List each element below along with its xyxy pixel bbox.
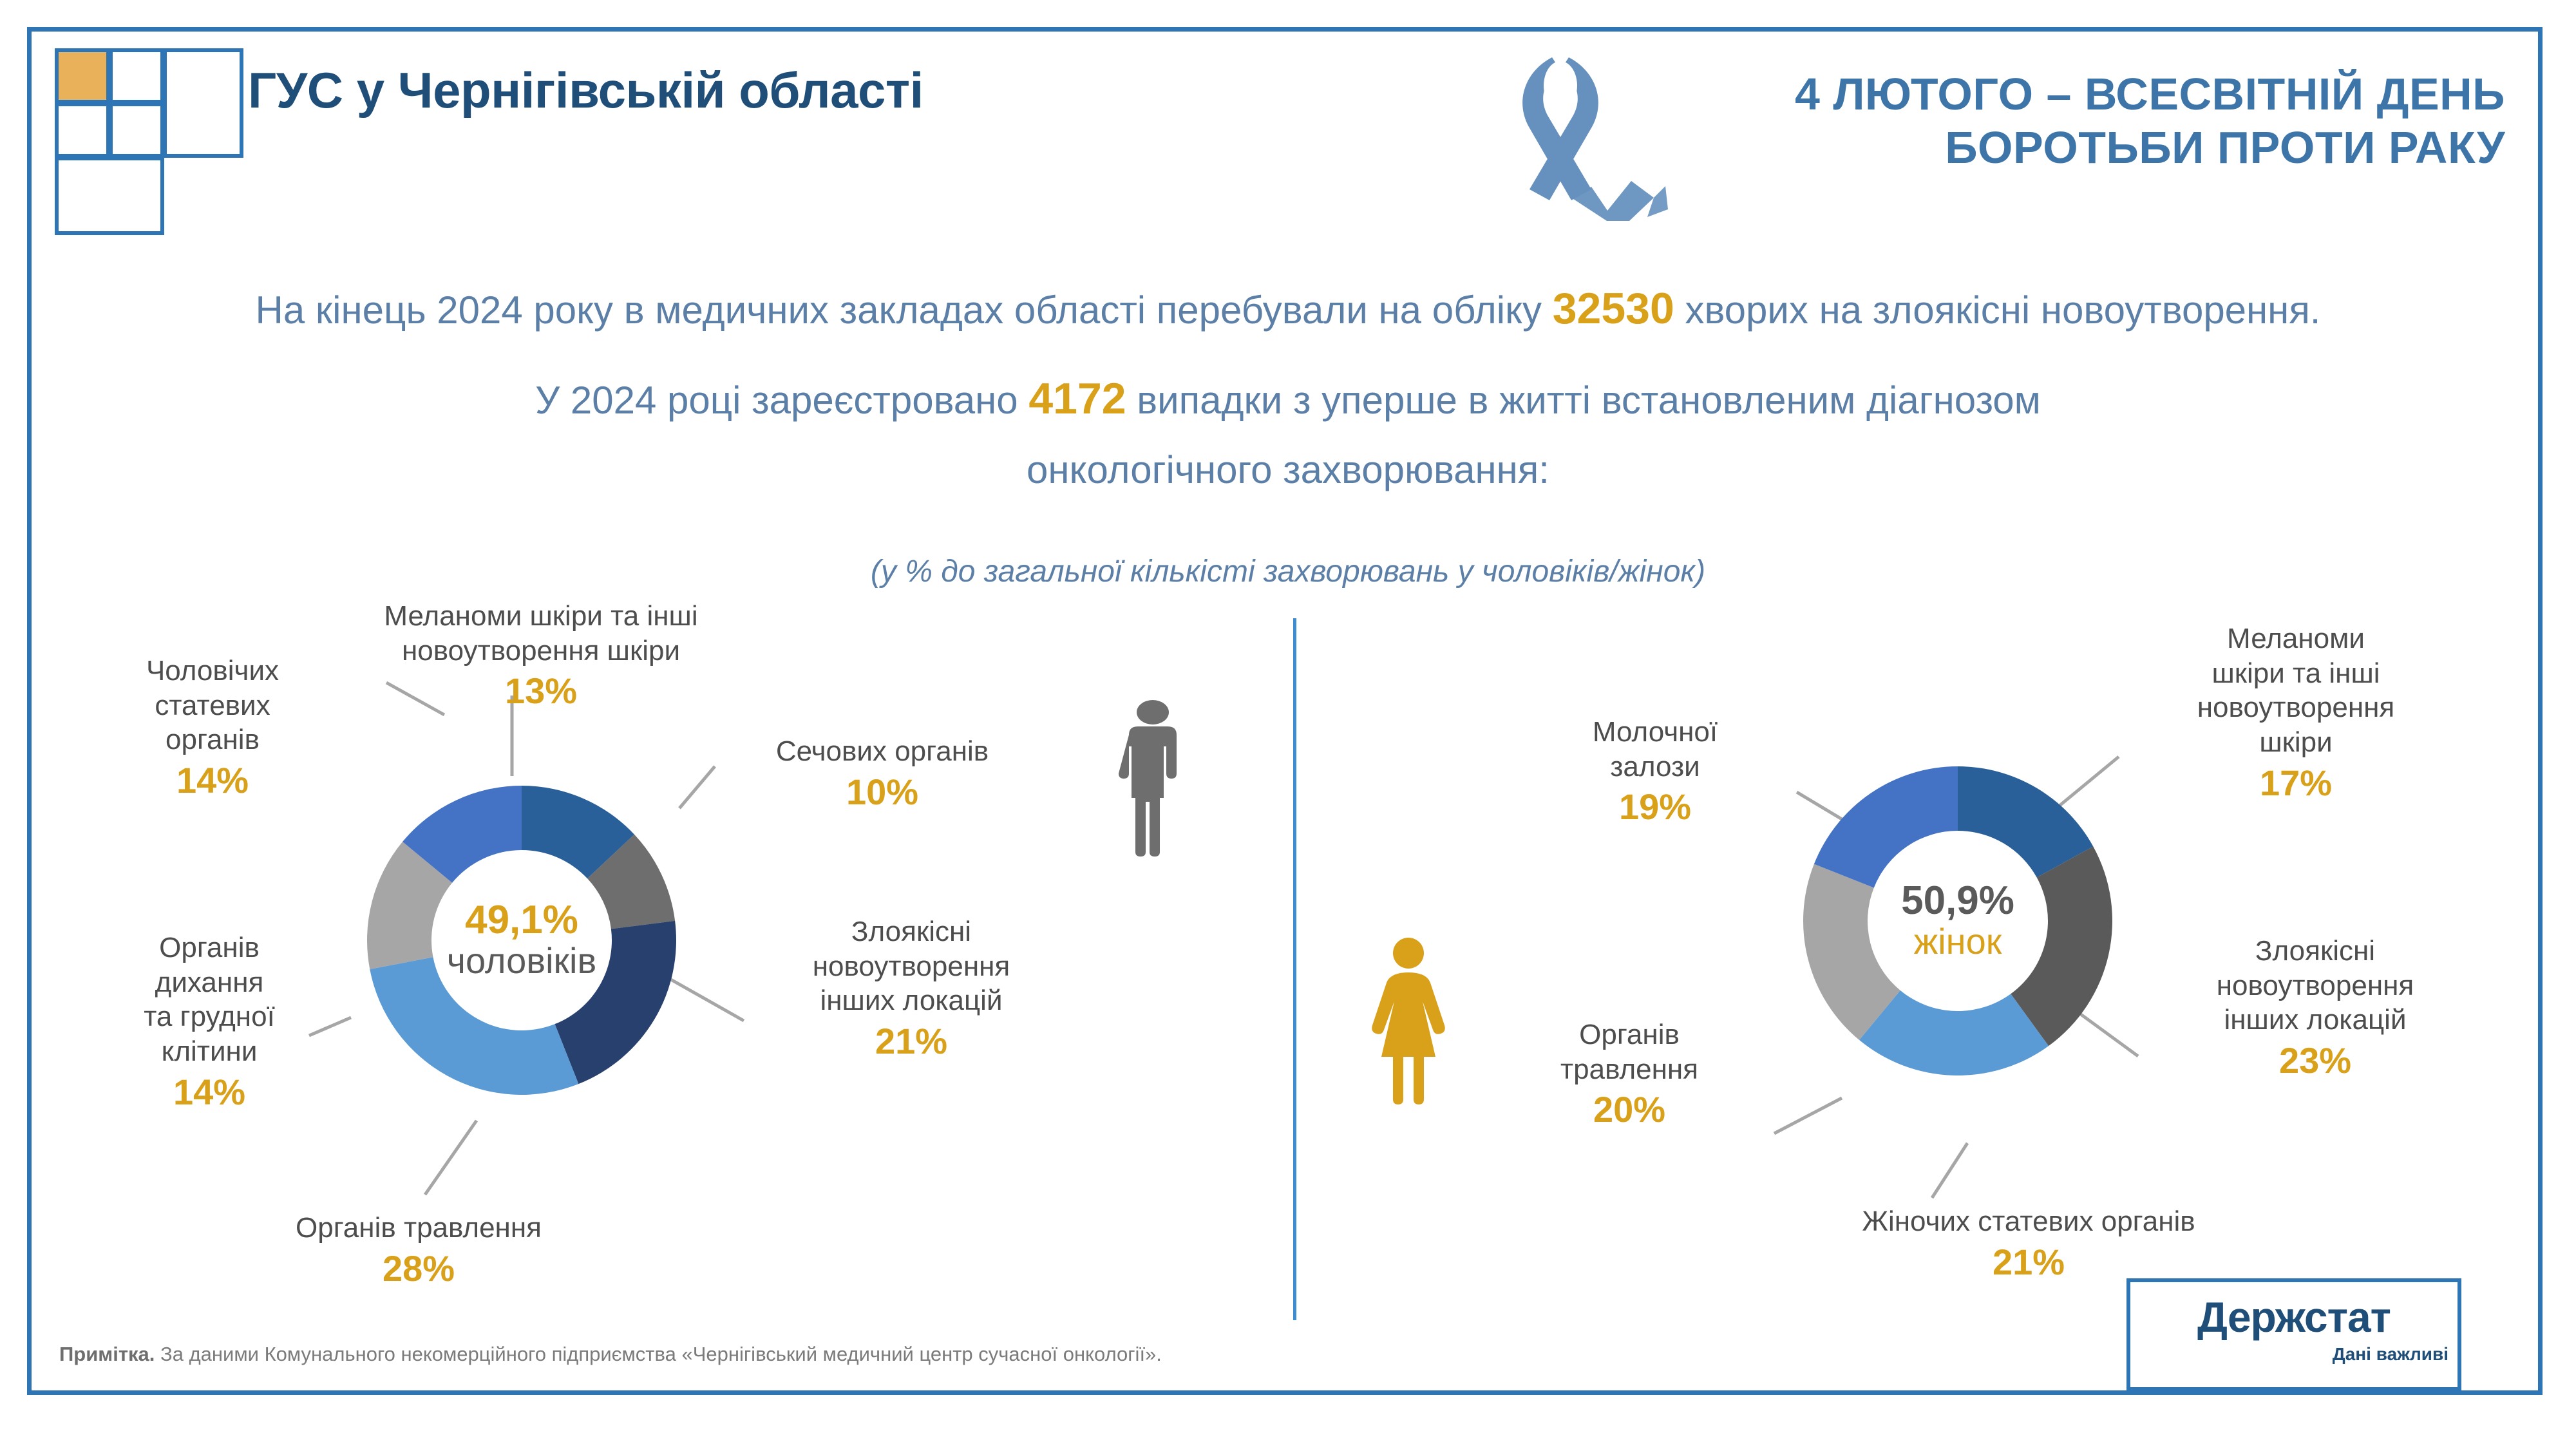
male-other-line1: Злоякісні — [851, 916, 971, 947]
campaign-title-line1: 4 ЛЮТОГО – ВСЕСВІТНІЙ ДЕНЬ — [1584, 68, 2505, 121]
male-respiratory-line2: дихання — [155, 967, 264, 998]
logo-cell-4 — [109, 102, 164, 158]
logo-cell-5 — [163, 48, 243, 158]
male-urinary-value: 10% — [728, 770, 1037, 814]
campaign-title: 4 ЛЮТОГО – ВСЕСВІТНІЙ ДЕНЬ БОРОТЬБИ ПРОТ… — [1584, 68, 2505, 174]
logo-cell-6 — [55, 156, 164, 235]
female-breast-line1: Молочної — [1593, 716, 1718, 748]
female-melanoma-line1: Меланоми — [2227, 623, 2365, 654]
infographic-slide: ГУС у Чернігівській області 4 ЛЮТОГО – В… — [0, 0, 2576, 1449]
female-genital-line1: Жіночих статевих органів — [1862, 1206, 2195, 1237]
female-genital-value: 21% — [1739, 1240, 2318, 1284]
female-donut-chart: 50,9% жінок — [1765, 728, 2151, 1114]
male-respiratory-line1: Органів — [159, 932, 260, 963]
lead2-text-a: У 2024 році зареєстровано — [535, 379, 1018, 422]
logo-cell-gold — [55, 48, 110, 104]
male-melanoma-value: 13% — [335, 669, 747, 713]
male-urinary-line1: Сечових органів — [776, 735, 989, 767]
male-donut-hole — [432, 851, 611, 1030]
logo-cell-3 — [55, 102, 110, 158]
female-digestive-line1: Органів — [1579, 1019, 1680, 1050]
lead-statement-2: У 2024 році зареєстровано 4172 випадки з… — [0, 374, 2576, 424]
female-melanoma-value: 17% — [2145, 761, 2447, 805]
lead-statement-3: онкологічного захворювання: — [0, 448, 2576, 492]
female-label-other: Злоякісні новоутворення інших локацій 23… — [2170, 934, 2460, 1083]
percentage-basis-note: (у % до загальної кількісті захворювань … — [0, 554, 2576, 589]
female-other-line1: Злоякісні — [2255, 935, 2375, 967]
female-other-line2: новоутворення — [2217, 970, 2414, 1001]
female-label-digestive: Органів травлення 20% — [1488, 1018, 1771, 1132]
male-respiratory-line4: клітини — [162, 1036, 258, 1067]
male-other-line3: інших локацій — [820, 985, 1002, 1016]
male-melanoma-line2: новоутворення шкіри — [402, 635, 680, 667]
female-melanoma-line3: новоутворення — [2197, 692, 2395, 723]
statistics-office-logo — [55, 48, 216, 180]
male-genital-value: 14% — [109, 759, 316, 802]
lead1-text-b: хворих на злоякісні новоутворення. — [1685, 289, 2320, 332]
female-donut-svg — [1765, 728, 2151, 1114]
male-genital-line3: органів — [166, 724, 260, 755]
female-label-melanoma: Меланоми шкіри та інші новоутворення шкі… — [2145, 621, 2447, 805]
male-label-genital: Чоловічих статевих органів 14% — [109, 654, 316, 802]
male-label-other: Злоякісні новоутворення інших локацій 21… — [760, 914, 1063, 1063]
source-footnote: Примітка. За даними Комунального некомер… — [59, 1343, 1162, 1366]
male-digestive-line1: Органів травлення — [296, 1212, 542, 1244]
male-genital-line2: статевих — [155, 690, 270, 721]
male-respiratory-line3: та грудної — [144, 1001, 275, 1032]
footnote-text: За даними Комунального некомерційного пі… — [155, 1343, 1162, 1365]
male-label-respiratory: Органів дихання та грудної клітини 14% — [103, 931, 316, 1114]
column-divider — [1293, 618, 1296, 1320]
lead-statement-1: На кінець 2024 року в медичних закладах … — [0, 283, 2576, 334]
female-label-breast: Молочної залози 19% — [1526, 715, 1784, 829]
male-label-urinary: Сечових органів 10% — [728, 734, 1037, 814]
campaign-title-line2: БОРОТЬБИ ПРОТИ РАКУ — [1584, 121, 2505, 175]
lead1-text-a: На кінець 2024 року в медичних закладах … — [256, 289, 1542, 332]
male-other-value: 21% — [760, 1019, 1063, 1063]
female-figure-icon — [1367, 937, 1450, 1108]
organization-title: ГУС у Чернігівській області — [248, 61, 923, 120]
male-genital-line1: Чоловічих — [146, 655, 279, 687]
male-melanoma-line1: Меланоми шкіри та інші — [384, 600, 697, 632]
registered-total-value: 32530 — [1553, 284, 1674, 333]
female-donut-hole — [1868, 831, 2047, 1010]
footnote-bold: Примітка. — [59, 1343, 155, 1365]
female-melanoma-line2: шкіри та інші — [2211, 658, 2380, 689]
female-digestive-value: 20% — [1488, 1088, 1771, 1132]
male-digestive-value: 28% — [193, 1247, 644, 1291]
male-donut-svg — [328, 747, 715, 1133]
derzhstat-logo: Держстат Дані важливі — [2126, 1278, 2461, 1391]
female-breast-line2: залози — [1610, 751, 1700, 782]
female-melanoma-line4: шкіри — [2259, 726, 2332, 758]
male-label-melanoma: Меланоми шкіри та інші новоутворення шкі… — [335, 599, 747, 714]
derzhstat-tagline: Дані важливі — [2130, 1344, 2448, 1365]
male-donut-chart: 49,1% чоловіків — [328, 747, 715, 1133]
derzhstat-brand-name: Держстат — [2130, 1293, 2458, 1341]
male-figure-icon — [1117, 699, 1188, 866]
male-other-line2: новоутворення — [813, 951, 1010, 982]
male-respiratory-value: 14% — [103, 1070, 316, 1114]
new-cases-value: 4172 — [1028, 374, 1126, 423]
male-label-digestive: Органів травлення 28% — [193, 1211, 644, 1291]
female-breast-value: 19% — [1526, 785, 1784, 829]
female-other-line3: інших локацій — [2224, 1004, 2406, 1036]
logo-cell-2 — [109, 48, 164, 104]
female-label-genital: Жіночих статевих органів 21% — [1739, 1204, 2318, 1284]
lead2-text-b: випадки з уперше в житті встановленим ді… — [1137, 379, 2041, 422]
female-digestive-line2: травлення — [1560, 1054, 1698, 1085]
female-other-value: 23% — [2170, 1039, 2460, 1083]
